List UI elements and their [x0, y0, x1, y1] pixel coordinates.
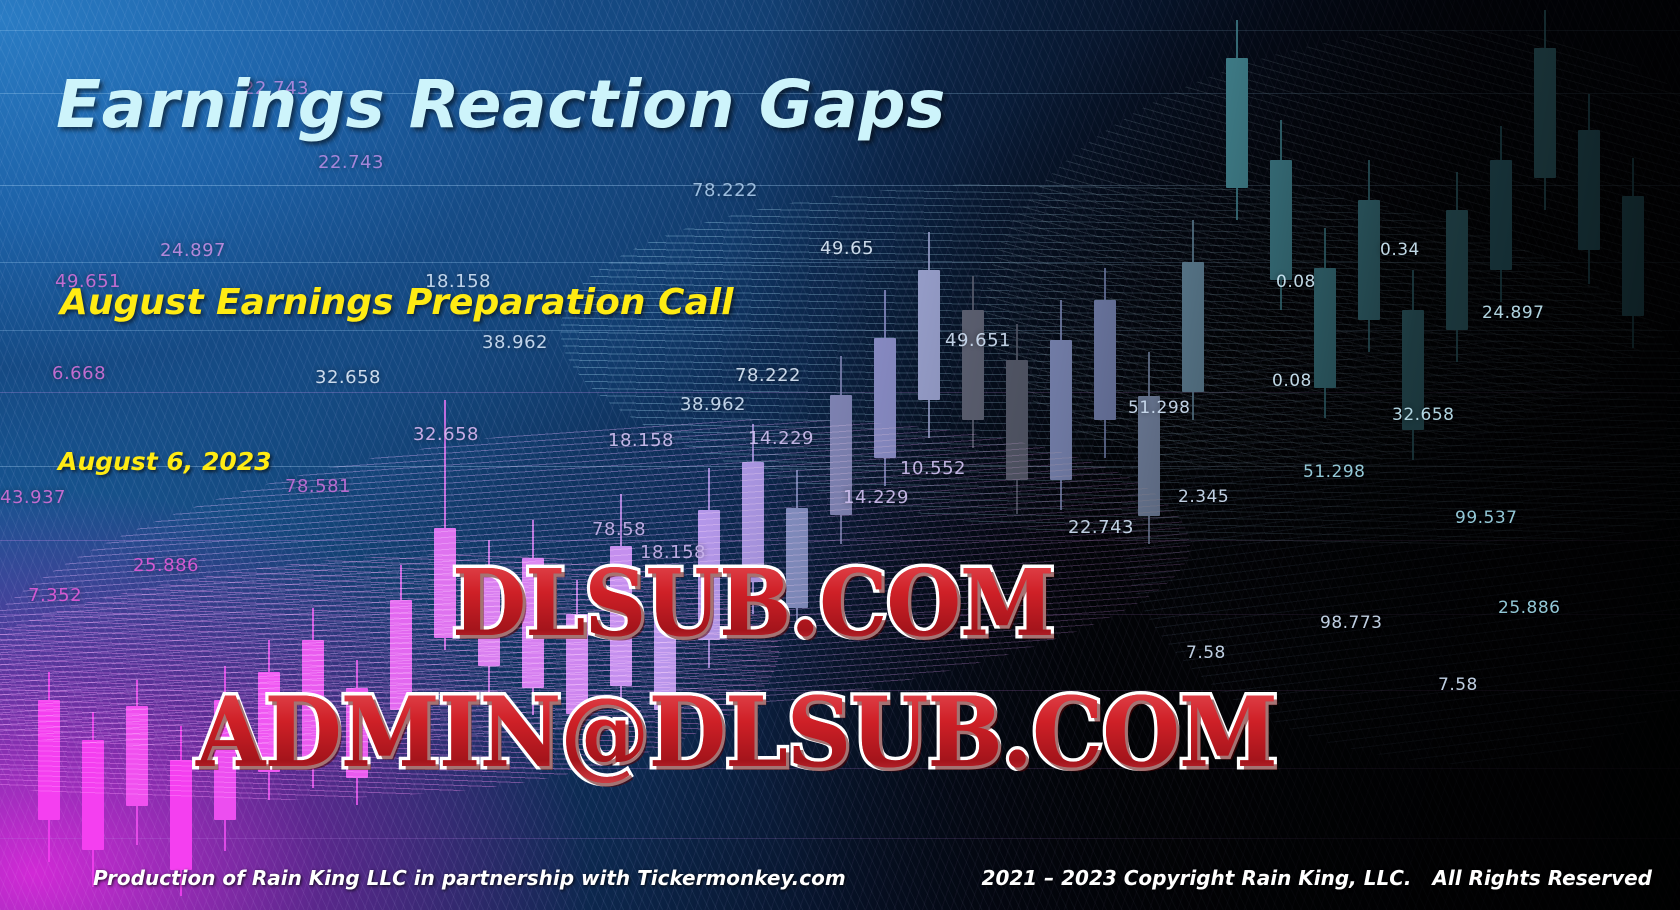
watermark-domain: DLSUB.COM — [452, 549, 1054, 657]
presentation-slide: 22.74322.74378.22224.89749.65118.15849.6… — [0, 0, 1680, 910]
page-title: Earnings Reaction Gaps — [56, 70, 946, 139]
watermark-email: ADMIN@DLSUB.COM — [196, 676, 1277, 789]
slide-subtitle: August Earnings Preparation Call — [60, 282, 733, 323]
slide-date: August 6, 2023 — [58, 447, 272, 476]
footer-production-credit: Production of Rain King LLC in partnersh… — [93, 866, 846, 890]
footer-copyright: 2021 – 2023 Copyright Rain King, LLC. Al… — [982, 866, 1652, 890]
